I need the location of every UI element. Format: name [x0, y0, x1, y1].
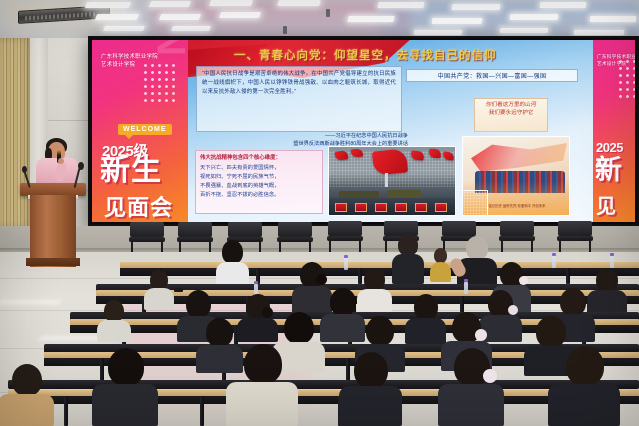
promo-school-line2-right: 艺术设计学院 [597, 61, 626, 66]
ceiling-light [219, 12, 261, 18]
spirit-text-box: 伟大抗战精神包含四个核心维度： 天下兴亡、匹夫有责的爱国情怀， 视死如归、宁死不… [195, 150, 323, 214]
troop-banner [335, 203, 347, 212]
ceiling-light [540, 2, 587, 8]
calligraphy-line-2: 我们要永远守护它 [477, 109, 546, 117]
led-video-wall[interactable]: DESIGN 广东科学技术职业学院 艺术设计学院 WELCOME 2025级 新… [88, 36, 639, 226]
promo-school-name-right: 广东科学技术职业学院 艺术设计学院 [597, 53, 635, 67]
floor-light-reflection [0, 300, 61, 304]
speaker-hand [58, 158, 64, 164]
ceiling-light [171, 26, 211, 31]
aux-banner-box: 中国共产党：救国—兴国—富国—强国 [406, 69, 578, 82]
ceiling-light [103, 26, 145, 31]
ceiling-light [149, 1, 191, 7]
ceiling-light [95, 14, 139, 20]
wood-slat-wall-panel [0, 38, 30, 228]
auditorium-scene: DESIGN 广东科学技术职业学院 艺术设计学院 WELCOME 2025级 新… [0, 0, 639, 426]
ceiling-light [500, 28, 549, 33]
spirit-line: 不畏强暴、血战到底的英雄气概， [200, 182, 318, 191]
podium [30, 195, 76, 267]
calligraphy-image: 你们看这万里的山河 我们要永远守护它 [474, 98, 548, 132]
red-flag-icon [429, 149, 442, 159]
parade-photo [328, 146, 456, 216]
promo-school-line1: 广东科学技术职业学院 [101, 54, 158, 60]
troop-banner [355, 203, 367, 212]
promo-school-line1-right: 广东科学技术职业学院 [597, 54, 635, 59]
quote-text: “中国人民抗日战争是艰苦卓绝的伟大战争。在中国共产党倡导建立的抗日民族统一战线旗… [202, 70, 396, 98]
stage-chair [276, 222, 314, 252]
stage-chair [176, 222, 214, 252]
promo-school-line2: 艺术设计学院 [101, 62, 135, 68]
stage-chair [498, 221, 536, 251]
ceiling-light [510, 14, 559, 20]
troop-row [329, 198, 455, 215]
podium-base [26, 258, 80, 266]
water-bottle [552, 256, 556, 268]
water-bottle [464, 282, 468, 294]
promo-headline: 新生 [100, 156, 162, 185]
ceiling-light [574, 30, 624, 35]
spirit-line: 天下兴亡、匹夫有责的爱国情怀， [200, 164, 318, 173]
stage-chair [128, 222, 166, 252]
water-bottle [610, 256, 614, 268]
ceiling-light [432, 18, 483, 24]
calligraphy-line-1: 你们看这万里的山河 [477, 101, 546, 109]
aux-banner-text: 中国共产党：救国—兴国—富国—强国 [438, 71, 547, 80]
red-flag-icon [334, 150, 348, 161]
promo-panel-left: DESIGN 广东科学技术职业学院 艺术设计学院 WELCOME 2025级 新… [92, 40, 188, 222]
mobile-phone [174, 288, 183, 292]
ceiling-light [590, 16, 636, 22]
thumbnail-photo [462, 190, 488, 216]
ceiling-sensor-icon [326, 9, 330, 17]
welcome-badge: WELCOME [118, 124, 172, 135]
ceiling-light [277, 0, 321, 6]
stage-chair [556, 221, 594, 251]
wall-seam [48, 120, 88, 121]
stage-chair [326, 221, 364, 251]
troop-banner [415, 203, 427, 212]
spirit-title: 伟大抗战精神包含四个核心维度： [200, 154, 318, 163]
promo-school-name: 广东科学技术职业学院 艺术设计学院 [101, 53, 158, 69]
slide-title: 一、青春心向党：仰望星空，去寻找自己的信仰 [234, 47, 497, 63]
promo-headline-right: 新 [595, 156, 623, 185]
promo-subheadline: 见面会 [104, 190, 173, 222]
microphone-head-icon [78, 162, 84, 170]
troop-banner [375, 203, 387, 212]
quote-box: “中国人民抗日战争是艰苦卓绝的伟大战争。在中国共产党倡导建立的抗日民族统一战线旗… [196, 66, 402, 132]
ceiling-sensor-icon [283, 26, 287, 34]
ceiling-light [377, 2, 424, 8]
promo-panel-right: 广东科学技术职业学院 艺术设计学院 2025级 新 见面 [593, 40, 635, 222]
ceiling-light [209, 0, 253, 6]
promo-subheadline-right: 见面 [596, 190, 635, 222]
water-bottle [344, 258, 348, 270]
ceiling-light [85, 2, 131, 8]
troop-banner [395, 203, 407, 212]
citation-line-1: ——习近平在纪念中国人民抗日战争 [258, 132, 408, 140]
spirit-line: 百折不挠、坚忍不拔的必胜信念。 [200, 191, 318, 200]
ceiling-light [414, 30, 463, 35]
ceiling-light [452, 4, 501, 10]
ceiling-light [347, 16, 394, 22]
presentation-slide: 一、青春心向党：仰望星空，去寻找自己的信仰 “中国人民抗日战争是艰苦卓绝的伟大战… [188, 40, 593, 222]
spirit-line: 视死如归、宁死不屈的民族气节， [200, 173, 318, 182]
microphone-head-icon [22, 166, 27, 173]
ceiling-light [159, 14, 201, 20]
red-flag-icon [351, 149, 364, 158]
troop-banner [435, 203, 447, 212]
